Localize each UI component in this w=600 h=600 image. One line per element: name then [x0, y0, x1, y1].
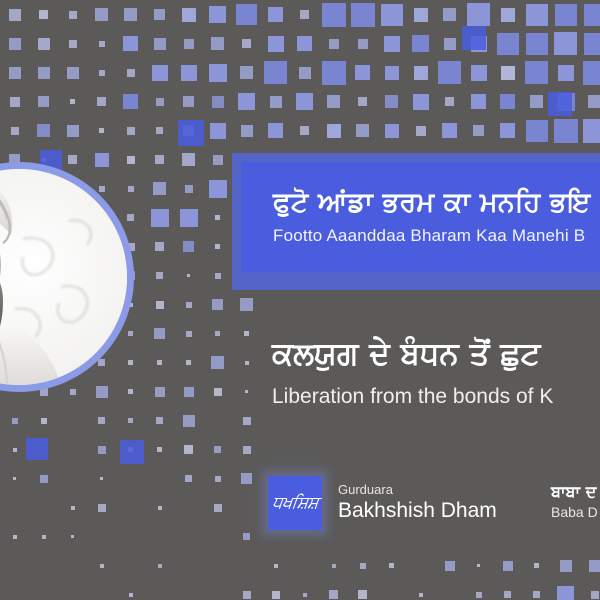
pattern-square — [128, 418, 133, 423]
pattern-square — [187, 274, 190, 277]
pattern-square — [156, 98, 164, 106]
pattern-square — [183, 241, 194, 252]
portrait-medallion — [0, 162, 134, 392]
pattern-square — [128, 389, 133, 394]
pattern-square-accent — [26, 438, 48, 460]
pattern-square — [385, 95, 398, 108]
headline-gurmukhi: ਕਲਯੁਗ ਦੇ ਬੰਧਨ ਤੋਂ ਛੁਟ — [272, 334, 600, 374]
pattern-square — [240, 66, 253, 79]
pattern-square — [413, 94, 429, 110]
pattern-square — [584, 4, 600, 26]
pattern-square — [245, 361, 249, 365]
pattern-square — [128, 331, 133, 336]
pattern-square — [589, 560, 600, 572]
pattern-square — [530, 95, 543, 108]
pattern-square — [71, 535, 74, 538]
pattern-square — [70, 389, 76, 395]
pattern-square — [152, 65, 168, 81]
pattern-square — [557, 93, 575, 111]
pattern-square — [358, 590, 367, 599]
pattern-square — [526, 33, 548, 55]
pattern-square — [416, 126, 426, 136]
pattern-square — [182, 153, 195, 166]
pattern-square — [442, 123, 457, 138]
pattern-square — [445, 561, 455, 571]
pattern-square — [270, 96, 282, 108]
pattern-square — [473, 125, 484, 136]
pattern-square — [154, 38, 166, 50]
pattern-square — [157, 447, 162, 452]
brand-line-1: Gurduara — [338, 482, 497, 498]
pattern-square — [554, 119, 578, 143]
pattern-square — [419, 593, 423, 597]
pattern-square — [68, 155, 77, 164]
pattern-square — [209, 6, 226, 23]
pattern-square — [497, 33, 519, 55]
pattern-square — [215, 244, 220, 249]
pattern-square — [183, 96, 194, 107]
pattern-square — [322, 3, 346, 27]
pattern-square — [245, 390, 248, 393]
pattern-square — [477, 564, 480, 567]
headline-english: Liberation from the bonds of K — [272, 382, 600, 411]
pattern-square — [438, 61, 461, 84]
quote-banner: ਫੁਟੋ ਆਂਡਾ ਭਰਮ ਕਾ ਮਨਹਿ ਭਇ Footto Aaanddaa… — [241, 162, 600, 272]
pattern-square — [156, 417, 163, 424]
pattern-square — [240, 298, 253, 311]
pattern-square — [185, 475, 192, 482]
pattern-square — [327, 124, 341, 138]
pattern-square — [11, 127, 19, 135]
pattern-square — [38, 96, 49, 107]
pattern-square — [300, 126, 309, 135]
pattern-square — [384, 36, 400, 52]
poster-canvas: ਫੁਟੋ ਆਂਡਾ ਭਰਮ ਕਾ ਮਨਹਿ ਭਇ Footto Aaanddaa… — [0, 0, 600, 600]
pattern-square — [356, 124, 369, 137]
pattern-square — [583, 61, 600, 85]
pattern-square — [555, 4, 577, 26]
logo-gurmukhi-glyph: ਧਖਸ਼ਿਸ਼ — [271, 493, 319, 513]
pattern-square — [525, 61, 548, 84]
pattern-square — [99, 128, 104, 133]
pattern-square — [381, 4, 403, 26]
pattern-square — [158, 564, 162, 568]
pattern-square — [327, 95, 340, 108]
pattern-square — [268, 123, 283, 138]
pattern-square — [209, 180, 227, 198]
pattern-square — [13, 448, 17, 452]
pattern-square — [154, 328, 165, 339]
pattern-square — [297, 36, 312, 51]
pattern-square — [443, 8, 456, 21]
pattern-square — [296, 93, 313, 110]
pattern-square — [243, 533, 250, 540]
pattern-square — [12, 418, 18, 424]
pattern-square — [9, 67, 21, 79]
pattern-square — [69, 11, 77, 19]
pattern-square — [13, 477, 16, 480]
pattern-square-accent — [548, 92, 572, 116]
logo-mark-wrapper: ਧਖਸ਼ਿਸ਼ — [268, 476, 322, 530]
pattern-square — [268, 36, 284, 52]
secondary-brand-english: Baba D — [551, 503, 598, 522]
pattern-square — [96, 386, 108, 398]
pattern-square — [127, 156, 135, 164]
pattern-square — [156, 127, 163, 134]
pattern-square-accent — [178, 120, 204, 146]
pattern-square — [70, 99, 75, 104]
pattern-square — [244, 331, 249, 336]
pattern-square — [184, 387, 194, 397]
pattern-square — [526, 120, 548, 142]
quote-gurmukhi-line: ਫੁਟੋ ਆਂਡਾ ਭਰਮ ਕਾ ਮਨਹਿ ਭਇ — [273, 186, 600, 220]
pattern-square — [241, 473, 252, 484]
pattern-square — [215, 476, 221, 482]
pattern-square — [183, 415, 195, 427]
pattern-square — [501, 8, 515, 22]
pattern-square — [97, 97, 106, 106]
pattern-square — [124, 8, 137, 21]
pattern-square — [274, 564, 278, 568]
pattern-square — [158, 506, 162, 510]
pattern-square — [501, 66, 515, 80]
pattern-square — [123, 94, 138, 109]
pattern-square — [186, 360, 191, 365]
pattern-square — [445, 97, 454, 106]
pattern-square — [127, 214, 134, 221]
pattern-square — [156, 301, 164, 309]
secondary-brand-gurmukhi: ਬਾਬਾ ਦ — [551, 482, 598, 503]
pattern-square — [212, 96, 224, 108]
pattern-square — [156, 272, 163, 279]
pattern-square — [95, 153, 109, 167]
pattern-square — [211, 37, 224, 50]
pattern-square — [211, 356, 224, 369]
pattern-square — [10, 97, 20, 107]
pattern-square — [503, 561, 513, 571]
pattern-square — [100, 564, 104, 568]
pattern-square — [67, 67, 79, 79]
pattern-square — [128, 360, 133, 365]
pattern-square — [238, 93, 255, 110]
pattern-square — [209, 64, 227, 82]
pattern-square — [186, 302, 192, 308]
pattern-square — [99, 70, 105, 76]
pattern-square — [303, 593, 307, 597]
pattern-square — [557, 586, 574, 600]
pattern-square — [385, 66, 399, 80]
pattern-square — [71, 506, 75, 510]
pattern-square — [332, 564, 336, 568]
pattern-square-accent — [462, 26, 486, 50]
pattern-square — [583, 119, 600, 143]
pattern-square — [155, 155, 164, 164]
pattern-square — [351, 3, 375, 27]
pattern-square — [186, 331, 192, 337]
pattern-square — [236, 4, 257, 25]
pattern-square — [500, 123, 515, 138]
pattern-square — [42, 158, 46, 162]
pattern-square — [554, 32, 577, 55]
pattern-square — [181, 65, 197, 81]
pattern-square — [95, 8, 108, 21]
pattern-square — [155, 242, 164, 251]
pattern-square — [467, 3, 490, 26]
pattern-square — [272, 591, 280, 599]
pattern-square-accent — [120, 440, 144, 464]
quote-transliteration-line: Footto Aaanddaa Bharam Kaa Manehi B — [273, 224, 600, 249]
pattern-square — [588, 95, 600, 108]
pattern-square — [476, 592, 482, 598]
pattern-square — [157, 360, 162, 365]
pattern-square — [38, 38, 50, 50]
pattern-square — [471, 94, 486, 109]
pattern-square — [153, 182, 166, 195]
pattern-square — [184, 445, 193, 454]
pattern-square — [414, 66, 428, 80]
pattern-square — [155, 387, 165, 397]
pattern-square — [358, 39, 368, 49]
pattern-square — [98, 504, 106, 512]
pattern-square — [358, 97, 367, 106]
pattern-square — [444, 38, 456, 50]
pattern-square — [215, 215, 220, 220]
pattern-square — [243, 417, 251, 425]
quote-banner-text-block: ਫੁਟੋ ਆਂਡਾ ਭਰਮ ਕਾ ਮਨਹਿ ਭਇ Footto Aaanddaa… — [273, 186, 600, 248]
pattern-square — [98, 446, 106, 454]
pattern-square — [128, 447, 133, 452]
pattern-square — [151, 209, 169, 227]
pattern-square — [9, 9, 21, 21]
pattern-square — [40, 475, 48, 483]
pattern-square — [129, 593, 133, 597]
pattern-square — [39, 10, 48, 19]
pattern-square — [242, 39, 251, 48]
pattern-square — [213, 155, 223, 165]
gurduara-logo-icon: ਧਖਸ਼ਿਸ਼ — [268, 476, 322, 530]
pattern-square — [560, 560, 572, 572]
pattern-square — [355, 65, 370, 80]
pattern-square — [210, 123, 226, 139]
pattern-square — [42, 535, 46, 539]
pattern-square — [127, 127, 135, 135]
pattern-square — [13, 535, 17, 539]
pattern-square — [500, 94, 515, 109]
pattern-square — [360, 563, 366, 569]
pattern-square — [264, 61, 287, 84]
pattern-square — [471, 36, 487, 52]
pattern-square — [329, 590, 338, 599]
pattern-square — [100, 477, 103, 480]
pattern-square — [389, 563, 394, 568]
pattern-square — [37, 124, 50, 137]
pattern-square — [183, 125, 194, 136]
pattern-square — [123, 36, 138, 51]
pattern-square — [215, 331, 220, 336]
pattern-square — [9, 38, 21, 50]
pattern-square — [127, 69, 135, 77]
pattern-square — [533, 591, 540, 598]
pattern-square — [214, 504, 222, 512]
portrait-image — [0, 169, 127, 385]
headline-block: ਕਲਯੁਗ ਦੇ ਬੰਧਨ ਤੋਂ ਛੁਟ Liberation from th… — [272, 334, 600, 412]
pattern-square — [299, 67, 311, 79]
pattern-square — [471, 65, 487, 81]
pattern-square — [215, 273, 221, 279]
pattern-square — [591, 591, 599, 599]
pattern-square — [128, 186, 134, 192]
pattern-square — [214, 388, 222, 396]
pattern-square — [212, 299, 223, 310]
pattern-square — [300, 10, 309, 19]
brand-text-block: Gurduara Bakhshish Dham — [338, 482, 497, 525]
portrait-frame — [0, 169, 127, 385]
pattern-square — [154, 9, 165, 20]
pattern-square — [185, 185, 193, 193]
pattern-square — [38, 67, 50, 79]
pattern-square — [412, 35, 429, 52]
pattern-square — [41, 418, 47, 424]
pattern-square — [584, 33, 600, 55]
pattern-square — [69, 40, 77, 48]
pattern-square — [558, 65, 574, 81]
pattern-square — [214, 446, 221, 453]
pattern-square — [322, 61, 346, 85]
pattern-square — [243, 446, 251, 454]
pattern-square — [182, 8, 196, 22]
pattern-square — [414, 8, 428, 22]
pattern-square — [99, 41, 105, 47]
pattern-square — [180, 209, 198, 227]
pattern-square — [67, 125, 79, 137]
pattern-square — [184, 39, 194, 49]
pattern-square — [268, 7, 283, 22]
footer-brand-primary: ਧਖਸ਼ਿਸ਼ Gurduara Bakhshish Dham — [268, 476, 497, 530]
pattern-square — [534, 563, 539, 568]
pattern-square — [243, 591, 251, 599]
pattern-square — [241, 125, 253, 137]
pattern-square — [504, 591, 511, 598]
brand-line-2: Bakhshish Dham — [338, 498, 497, 524]
pattern-square — [98, 417, 105, 424]
pattern-square — [385, 124, 399, 138]
pattern-square — [329, 39, 339, 49]
footer-brand-secondary: ਬਾਬਾ ਦ Baba D — [551, 482, 598, 522]
pattern-square — [526, 4, 548, 26]
